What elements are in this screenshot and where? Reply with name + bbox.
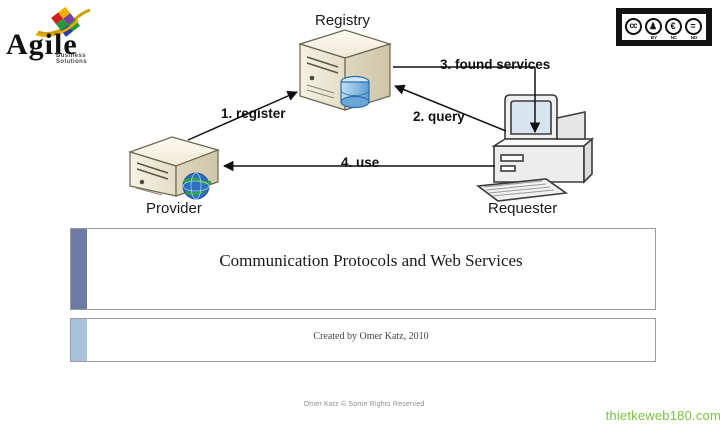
requester-node-label: Requester xyxy=(488,200,557,217)
title-accent-bar xyxy=(71,229,87,309)
diagram-graphics xyxy=(0,0,728,228)
registry-node-label: Registry xyxy=(315,12,370,29)
title-block: Communication Protocols and Web Services xyxy=(70,228,656,310)
slide-title: Communication Protocols and Web Services xyxy=(87,251,655,287)
site-watermark: thietkeweb180.com xyxy=(606,408,721,423)
edge-label-query: 2. query xyxy=(413,109,465,124)
subtitle-accent-bar xyxy=(71,319,87,361)
subtitle-block: Created by Omer Katz, 2010 xyxy=(70,318,656,362)
web-services-diagram: Registry Provider Requester 1. register … xyxy=(0,0,728,228)
edge-label-found: 3. found services xyxy=(440,57,550,72)
registry-node-graphic xyxy=(300,30,390,110)
edge-label-use: 4. use xyxy=(341,155,379,170)
provider-node-label: Provider xyxy=(146,200,202,217)
slide-subtitle: Created by Omer Katz, 2010 xyxy=(87,331,655,350)
slide-footer: Omer Katz © Some Rights Reserved xyxy=(0,401,728,408)
provider-node-graphic xyxy=(130,137,218,199)
slide-canvas: Agile Business Solutions cc ♟ BY € NC = … xyxy=(0,0,728,437)
edge-label-register: 1. register xyxy=(221,106,286,121)
